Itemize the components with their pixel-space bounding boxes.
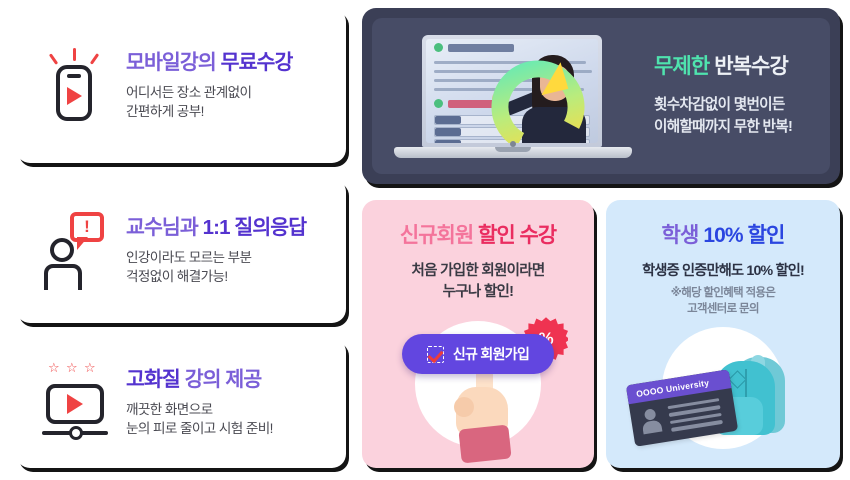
slide-bullet: [434, 43, 443, 52]
card-student-discount[interactable]: 학생 10% 할인 학생증 인증만해도 10% 할인! ※해당 할인혜택 적용은…: [606, 200, 840, 468]
note-line-2: 고객센터로 문의: [606, 302, 840, 317]
card-quality-text: 고화질 강의 제공 깨끗한 화면으로 눈의 피로 줄이고 시험 준비!: [126, 367, 332, 438]
heading-part-bold: 무료수강: [221, 51, 293, 74]
id-card-photo: [639, 408, 663, 435]
card-mobile-heading: 모바일강의 무료수강: [126, 50, 332, 76]
card-one-to-one-qna[interactable]: ! 교수님과 1:1 질의응답 인강이라도 모르는 부분 걱정없이 해결가능!: [16, 178, 346, 323]
person-head: [50, 238, 74, 262]
note-line-1: ※해당 할인혜택 적용은: [606, 286, 840, 301]
laptop-lecture-replay-icon: [394, 21, 632, 171]
card-new-member-discount[interactable]: 신규회원 할인 수강 처음 가입한 회원이라면 누구나 할인! % 신규 회원가…: [362, 200, 594, 468]
play-triangle-icon: [67, 87, 82, 105]
body-line-1: 깨끗한 화면으로: [126, 400, 332, 419]
id-card-details: [668, 398, 724, 435]
heading-part-light: 교수님과: [126, 216, 198, 239]
phone-speaker: [67, 74, 81, 79]
body-line-1: 횟수차감없이 몇번이든: [654, 95, 830, 117]
star-icon: ☆: [84, 362, 96, 374]
slide-answer-chip: [435, 116, 461, 124]
laptop-screen: [422, 35, 602, 147]
heading-part-light: 모바일강의: [126, 51, 216, 74]
signup-button[interactable]: 신규 회원가입: [402, 334, 554, 374]
student-id-illustration: OOOO University: [606, 321, 840, 461]
heading-part-bold: 1:1 질의응답: [203, 216, 307, 239]
heading-part-blue: 10% 할인: [703, 224, 784, 247]
ray-right: [90, 53, 100, 65]
star-icon: ☆: [66, 362, 78, 374]
star-icon: ☆: [48, 362, 60, 374]
card-quality-heading: 고화질 강의 제공: [126, 367, 332, 393]
heading-part-accent: 무제한: [654, 55, 709, 78]
card-unlimited-body: 횟수차감없이 몇번이든 이해할때까지 무한 반복!: [654, 95, 830, 139]
card-unlimited-heading: 무제한 반복수강: [654, 54, 830, 79]
ray-left: [49, 53, 59, 65]
slide-bullet: [434, 99, 443, 108]
slide-answer-chip: [435, 128, 461, 136]
card-student-note: ※해당 할인혜택 적용은 고객센터로 문의: [606, 286, 840, 317]
person-torso: [44, 264, 82, 290]
signup-button-label: 신규 회원가입: [453, 344, 529, 364]
card-qna-text: 교수님과 1:1 질의응답 인강이라도 모르는 부분 걱정없이 해결가능!: [126, 215, 332, 286]
card-unlimited-inner: 무제한 반복수강 횟수차감없이 몇번이든 이해할때까지 무한 반복!: [372, 18, 830, 174]
replay-circular-arrow-icon: [486, 57, 590, 143]
card-qna-body: 인강이라도 모르는 부분 걱정없이 해결가능!: [126, 248, 332, 287]
star-rating-icons: ☆ ☆ ☆: [48, 362, 96, 374]
card-mobile-text: 모바일강의 무료수강 어디서든 장소 관계없이 간편하게 공부!: [126, 50, 332, 121]
slide-title-bar: [448, 44, 514, 52]
speech-bubble-icon: !: [70, 212, 104, 242]
card-mobile-body: 어디서든 장소 관계없이 간편하게 공부!: [126, 83, 332, 122]
person-speech-bubble-icon: !: [42, 210, 108, 292]
heading-part-bold: 할인 수강: [478, 224, 556, 247]
pointing-hand-icon: [450, 361, 524, 457]
heading-part-light: 강의 제공: [185, 368, 262, 391]
card-student-body: 학생증 인증만해도 10% 할인!: [606, 260, 840, 280]
card-unlimited-replay[interactable]: 무제한 반복수강 횟수차감없이 몇번이든 이해할때까지 무한 반복!: [362, 8, 840, 184]
monitor-play-icon: ☆ ☆ ☆: [42, 362, 108, 444]
body-line-2: 간편하게 공부!: [126, 102, 332, 121]
card-student-heading: 학생 10% 할인: [606, 223, 840, 248]
body-line-1: 인강이라도 모르는 부분: [126, 248, 332, 267]
card-quality-body: 깨끗한 화면으로 눈의 피로 줄이고 시험 준비!: [126, 400, 332, 439]
card-newmember-heading: 신규회원 할인 수강: [362, 223, 594, 248]
heading-part-light: 신규회원: [400, 224, 473, 247]
play-triangle-icon: [67, 394, 83, 414]
hand-knuckle: [454, 397, 474, 417]
body-line-2: 누구나 할인!: [362, 282, 594, 303]
signup-illustration: % 신규 회원가입: [362, 309, 594, 459]
lecture-slide: [426, 39, 598, 143]
laptop-touchpad: [510, 141, 516, 147]
avatar-head: [644, 408, 657, 421]
phone-play-icon: [42, 45, 108, 127]
body-line-2: 걱정없이 해결가능!: [126, 267, 332, 286]
body-line-1: 어디서든 장소 관계없이: [126, 83, 332, 102]
heading-part-rest: 반복수강: [714, 55, 788, 78]
card-high-quality-lecture[interactable]: ☆ ☆ ☆ 고화질 강의 제공 깨끗한 화면으로 눈의 피로 줄이고 시험 준비…: [16, 338, 346, 468]
card-newmember-body: 처음 가입한 회원이라면 누구나 할인!: [362, 261, 594, 303]
body-line-2: 이해할때까지 무한 반복!: [654, 117, 830, 139]
card-qna-heading: 교수님과 1:1 질의응답: [126, 215, 332, 241]
laptop-notch: [495, 147, 531, 152]
body-line-2: 눈의 피로 줄이고 시험 준비!: [126, 419, 332, 438]
avatar-body: [642, 419, 663, 434]
slide-answer-chip: [435, 140, 461, 143]
body-line-1: 처음 가입한 회원이라면: [362, 261, 594, 282]
heading-part-bold: 고화질: [126, 368, 180, 391]
checkbox-checked-icon: [427, 346, 444, 363]
heading-part-purple: 학생: [662, 224, 699, 247]
progress-knob: [69, 426, 83, 440]
card-unlimited-text: 무제한 반복수강 횟수차감없이 몇번이든 이해할때까지 무한 반복!: [632, 54, 830, 139]
hand-sleeve: [458, 425, 511, 464]
ray-middle: [73, 48, 76, 61]
card-mobile-free-lecture[interactable]: 모바일강의 무료수강 어디서든 장소 관계없이 간편하게 공부!: [16, 8, 346, 163]
promo-grid: 모바일강의 무료수강 어디서든 장소 관계없이 간편하게 공부! ! 교수님과 …: [0, 0, 850, 480]
